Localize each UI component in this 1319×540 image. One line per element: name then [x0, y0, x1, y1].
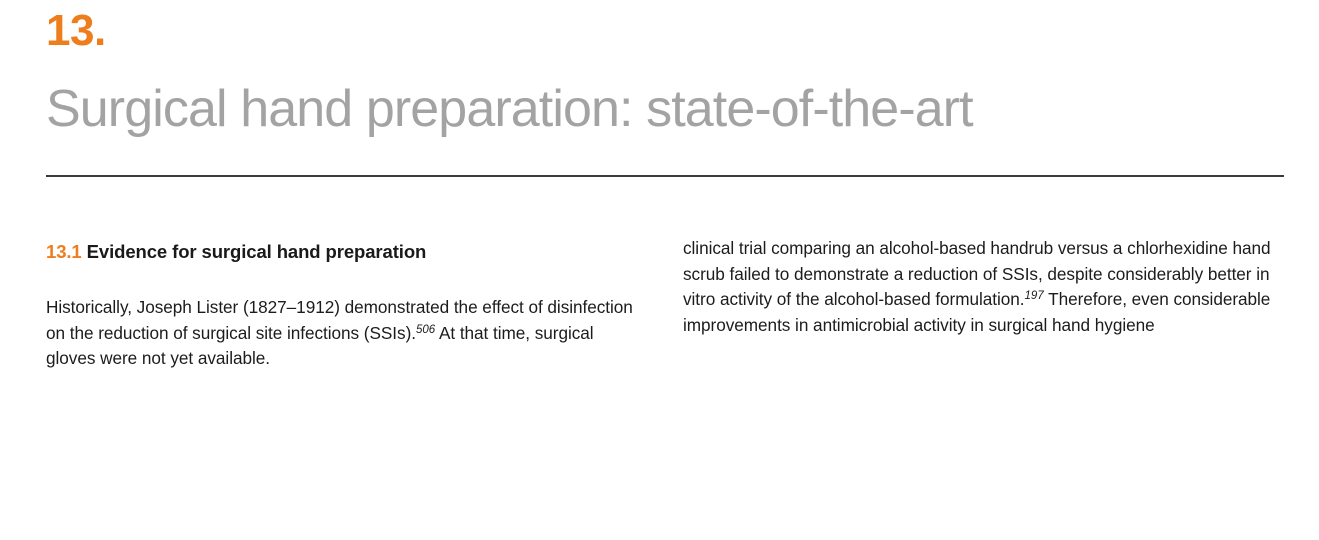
document-page: 13. Surgical hand preparation: state-of-… — [0, 0, 1319, 540]
section-number: 13.1 — [46, 241, 87, 262]
chapter-title: Surgical hand preparation: state-of-the-… — [46, 58, 1286, 140]
chapter-header: 13. Surgical hand preparation: state-of-… — [46, 0, 1286, 140]
reference-marker-506: 506 — [416, 324, 435, 336]
paragraph-right: clinical trial comparing an alcohol-base… — [683, 238, 1286, 339]
section-heading: 13.1 Evidence for surgical hand preparat… — [46, 238, 636, 264]
header-divider-rule — [46, 175, 1284, 177]
column-right: clinical trial comparing an alcohol-base… — [683, 238, 1286, 339]
chapter-number: 13. — [46, 0, 1286, 58]
column-left: 13.1 Evidence for surgical hand preparat… — [46, 238, 636, 370]
section-heading-label: Evidence for surgical hand preparation — [87, 241, 427, 262]
paragraph-left: Historically, Joseph Lister (1827–1912) … — [46, 264, 636, 370]
body-columns: 13.1 Evidence for surgical hand preparat… — [46, 238, 1286, 370]
reference-marker-197: 197 — [1025, 290, 1044, 302]
